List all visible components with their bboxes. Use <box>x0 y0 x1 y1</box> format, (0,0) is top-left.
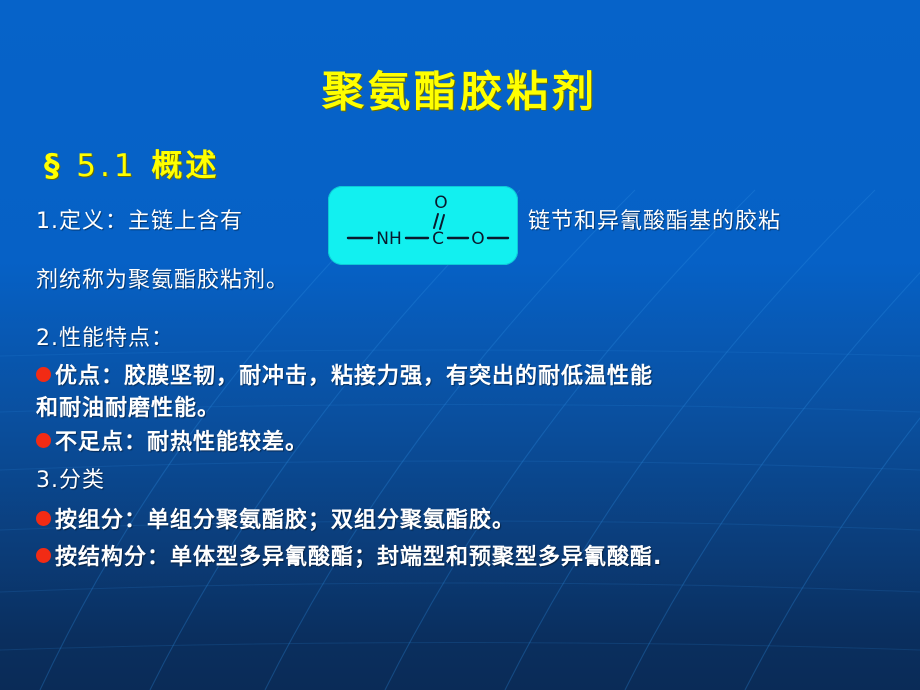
classification-label: 3.分类 <box>36 462 105 494</box>
definition-text-after-callout: 链节和异氰酸酯基的胶粘 <box>528 203 781 235</box>
bullet-advantage-text: 优点：胶膜坚韧，耐冲击，粘接力强，有突出的耐低温性能 <box>55 358 653 390</box>
atom-label-nh: NH <box>376 229 402 249</box>
definition-label: 1.定义：主链上含有 <box>36 203 243 235</box>
bullet-by-structure-text: 按结构分：单体型多异氰酸酯；封端型和预聚型多异氰酸酯. <box>55 539 662 571</box>
bullet-advantage-wrap: 和耐油耐磨性能。 <box>36 390 220 422</box>
atom-label-o-double: O <box>434 193 447 213</box>
urethane-structure-callout: NH C O O <box>328 186 518 265</box>
bullet-disadvantage-text: 不足点：耐热性能较差。 <box>55 424 308 456</box>
bullet-by-component: 按组分：单组分聚氨酯胶；双组分聚氨酯胶。 <box>36 502 515 534</box>
atom-label-o-single: O <box>471 229 484 249</box>
bullet-dot-icon <box>36 367 51 382</box>
definition-line-2: 剂统称为聚氨酯胶粘剂。 <box>36 262 289 294</box>
page-title: 聚氨酯胶粘剂 <box>0 58 920 119</box>
atom-label-c: C <box>432 229 444 249</box>
properties-label: 2.性能特点： <box>36 320 174 352</box>
bullet-by-component-text: 按组分：单组分聚氨酯胶；双组分聚氨酯胶。 <box>55 502 515 534</box>
section-symbol: § <box>44 148 63 184</box>
bullet-dot-icon <box>36 511 51 526</box>
bullet-dot-icon <box>36 548 51 563</box>
section-label: 概述 <box>151 148 219 184</box>
bullet-dot-icon <box>36 433 51 448</box>
section-number: 5.1 <box>76 148 137 184</box>
bullet-disadvantage: 不足点：耐热性能较差。 <box>36 424 308 456</box>
bullet-advantage: 优点：胶膜坚韧，耐冲击，粘接力强，有突出的耐低温性能 <box>36 358 653 390</box>
bullet-by-structure: 按结构分：单体型多异氰酸酯；封端型和预聚型多异氰酸酯. <box>36 539 662 571</box>
slide: 聚氨酯胶粘剂 § 5.1 概述 1.定义：主链上含有 NH <box>0 0 920 690</box>
section-heading: § 5.1 概述 <box>44 140 219 185</box>
